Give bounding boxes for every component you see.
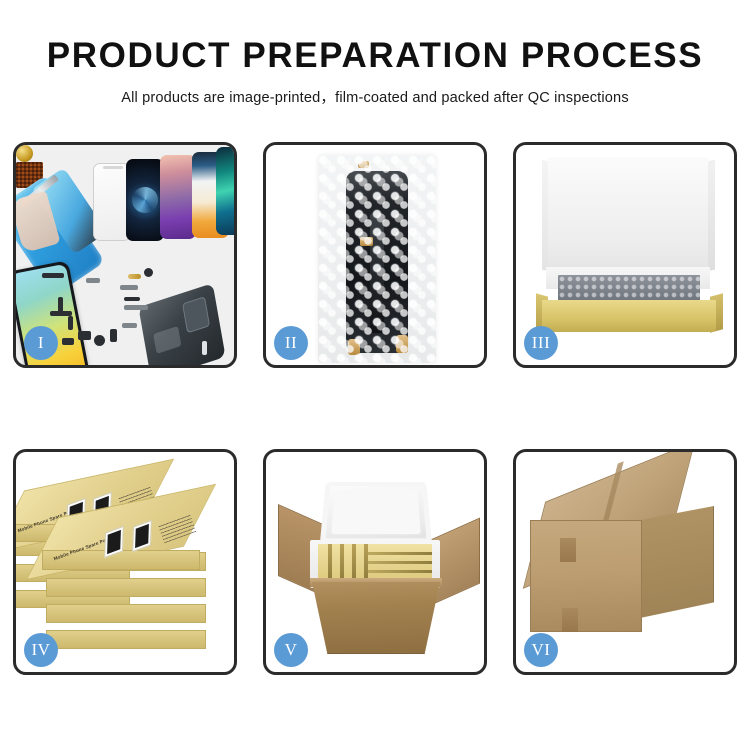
component-flex-icon bbox=[86, 278, 100, 283]
styrofoam-lid bbox=[320, 482, 432, 543]
phone-dark-blue-icon bbox=[126, 159, 164, 241]
bubble-texture-highlight bbox=[318, 155, 436, 363]
phone-purple-icon bbox=[160, 155, 196, 239]
panel-step-3: III bbox=[513, 142, 737, 368]
process-steps-grid: I II III bbox=[13, 142, 740, 675]
step-badge-1: I bbox=[24, 326, 58, 360]
component-cable2-icon bbox=[124, 297, 140, 301]
bubble-wrap-bag bbox=[318, 155, 436, 363]
component-chip-icon bbox=[62, 338, 74, 345]
component-button-icon bbox=[94, 335, 105, 346]
box-divider bbox=[352, 544, 356, 582]
component-gold-strip-icon bbox=[128, 274, 141, 279]
carton-body bbox=[312, 582, 440, 654]
box-divider bbox=[340, 544, 344, 582]
step-badge-5: V bbox=[274, 633, 308, 667]
step-badge-4: IV bbox=[24, 633, 58, 667]
bubble-wrapped-contents bbox=[558, 275, 700, 303]
header: PRODUCT PREPARATION PROCESS All products… bbox=[0, 0, 750, 107]
component-screw-plate-icon bbox=[122, 323, 137, 328]
panel-step-4: Mobile Phone Spare Parts Mobile Phone Sp… bbox=[13, 449, 237, 675]
component-bar-icon bbox=[42, 273, 64, 278]
kraft-boxes-inside bbox=[318, 544, 432, 582]
component-bracket-icon bbox=[120, 285, 138, 290]
panel-step-2: II bbox=[263, 142, 487, 368]
speaker-ring-gold-icon bbox=[16, 145, 33, 162]
box-row-line bbox=[368, 561, 432, 564]
box-row-line bbox=[368, 570, 432, 573]
panel-step-1: I bbox=[13, 142, 237, 368]
step-badge-2: II bbox=[274, 326, 308, 360]
box-row-line bbox=[368, 552, 432, 555]
step-badge-6: VI bbox=[524, 633, 558, 667]
box-lid-white bbox=[548, 157, 708, 279]
carton-front-face bbox=[530, 520, 642, 632]
phone-back-housing-icon bbox=[138, 283, 225, 365]
component-block-icon bbox=[78, 331, 91, 340]
carton-side-face bbox=[640, 506, 714, 618]
page-subtitle: All products are image-printed，film-coat… bbox=[0, 86, 750, 107]
component-screwdriver-bit-icon bbox=[202, 341, 207, 355]
component-cable-icon bbox=[124, 305, 148, 310]
component-tab-icon bbox=[110, 329, 117, 342]
box-divider bbox=[328, 544, 332, 582]
page-title: PRODUCT PREPARATION PROCESS bbox=[0, 38, 750, 75]
box-front-kraft bbox=[542, 300, 716, 332]
component-dot-icon bbox=[144, 268, 153, 277]
panel-step-6: VI bbox=[513, 449, 737, 675]
step-badge-3: III bbox=[524, 326, 558, 360]
carton-tape-bottom-icon bbox=[562, 608, 578, 632]
component-pin2-icon bbox=[68, 316, 73, 330]
carton-tape-top-icon bbox=[560, 538, 576, 562]
phone-teal-icon bbox=[216, 147, 234, 235]
panel-step-5: V bbox=[263, 449, 487, 675]
